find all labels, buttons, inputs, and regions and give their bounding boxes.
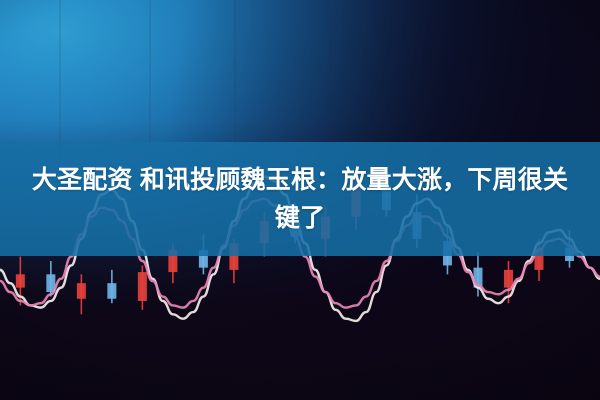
headline-band: 大圣配资 和讯投顾魏玉根：放量大涨，下周很关 键了 [0,142,600,256]
headline-container: 大圣配资 和讯投顾魏玉根：放量大涨，下周很关 键了 [20,161,580,237]
headline-line-1: 大圣配资 和讯投顾魏玉根：放量大涨，下周很关 [20,161,580,199]
thumbnail-image: 大圣配资 和讯投顾魏玉根：放量大涨，下周很关 键了 [0,0,600,400]
headline-line-2: 键了 [20,199,580,237]
